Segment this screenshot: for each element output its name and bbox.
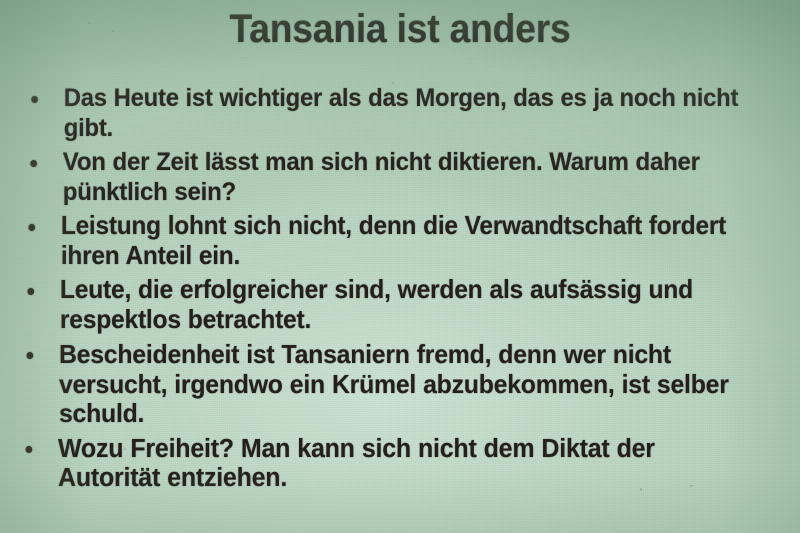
bullet-list-item: Von der Zeit lässt man sich nicht diktie… (16, 148, 749, 207)
bullet-dot-icon (31, 96, 38, 103)
bullet-text: Leute, die erfolgreicher sind, werden al… (60, 276, 693, 334)
slide-content: Tansania ist anders Das Heute ist wichti… (0, 0, 800, 533)
bullet-dot-icon (27, 352, 34, 359)
bullet-list-item: Das Heute ist wichtiger als das Morgen, … (16, 84, 749, 143)
projected-slide-photo: Tansania ist anders Das Heute ist wichti… (0, 0, 800, 533)
bullet-dot-icon (28, 224, 35, 231)
bullet-text: Bescheidenheit ist Tansaniern fremd, den… (59, 339, 729, 428)
bullet-list-item: Leistung lohnt sich nicht, denn die Verw… (16, 212, 749, 271)
bullet-text: Von der Zeit lässt man sich nicht diktie… (63, 148, 700, 206)
bullet-text: Wozu Freiheit? Man kann sich nicht dem D… (58, 433, 655, 493)
bullet-list-item: Leute, die erfolgreicher sind, werden al… (16, 276, 749, 335)
bullet-list: Das Heute ist wichtiger als das Morgen, … (16, 84, 784, 498)
bullet-text: Leistung lohnt sich nicht, denn die Verw… (61, 212, 726, 270)
bullet-dot-icon (27, 288, 34, 295)
bullet-dot-icon (30, 160, 37, 167)
bullet-list-item: Bescheidenheit ist Tansaniern fremd, den… (16, 340, 749, 429)
bullet-text: Das Heute ist wichtiger als das Morgen, … (64, 84, 738, 142)
bullet-list-item: Wozu Freiheit? Man kann sich nicht dem D… (16, 434, 749, 493)
bullet-dot-icon (26, 446, 33, 453)
slide-title: Tansania ist anders (28, 6, 772, 52)
